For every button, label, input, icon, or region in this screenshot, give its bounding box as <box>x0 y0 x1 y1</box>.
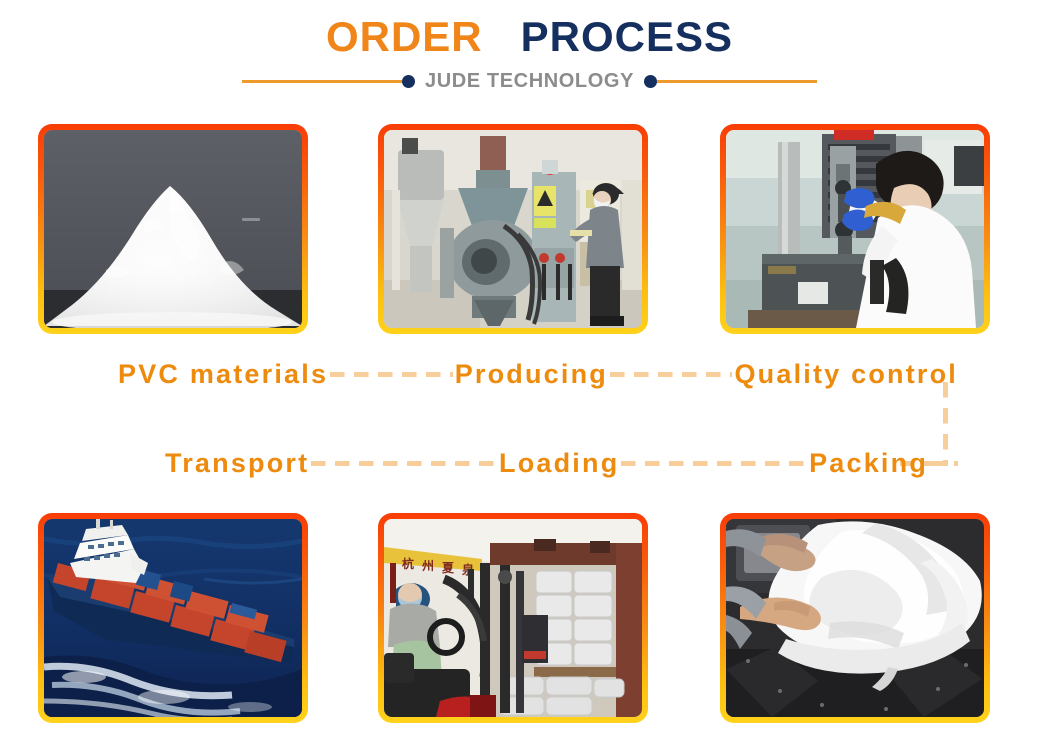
page-title-word-process: PROCESS <box>521 13 733 60</box>
photo-card-loading[interactable]: 杭州夏泉 <box>378 513 648 723</box>
photo-card-transport[interactable] <box>38 513 308 723</box>
step-label-loading: Loading <box>499 446 619 480</box>
step-connector-2 <box>610 372 732 377</box>
step-connector-5 <box>930 461 958 466</box>
transport-photo <box>44 519 302 717</box>
step-label-quality-control: Quality control <box>734 357 958 391</box>
photo-card-packing[interactable] <box>720 513 990 723</box>
step-connector-1 <box>330 372 452 377</box>
svg-text:夏: 夏 <box>442 561 455 575</box>
divider-line-right <box>657 80 817 83</box>
subtitle-row: JUDE TECHNOLOGY <box>0 66 1059 96</box>
packing-photo <box>726 519 984 717</box>
photo-card-producing[interactable] <box>378 124 648 334</box>
divider-dot-right-icon <box>644 75 657 88</box>
pvc-materials-photo <box>44 130 302 328</box>
photo-card-quality-control[interactable] <box>720 124 990 334</box>
step-label-packing: Packing <box>809 446 928 480</box>
process-step-row-bottom: Transport Loading Packing <box>165 443 960 483</box>
quality-control-photo <box>726 130 984 328</box>
page-title-word-order: ORDER <box>326 13 483 60</box>
step-label-pvc-materials: PVC materials <box>118 357 328 391</box>
svg-text:杭: 杭 <box>402 556 414 571</box>
page-header: ORDER PROCESS JUDE TECHNOLOGY <box>0 0 1059 110</box>
step-label-producing: Producing <box>455 357 608 391</box>
company-subtitle: JUDE TECHNOLOGY <box>415 70 644 92</box>
step-connector-3 <box>311 461 497 466</box>
svg-text:州: 州 <box>421 559 434 573</box>
loading-photo: 杭州夏泉 <box>384 519 642 717</box>
divider-line-left <box>242 80 402 83</box>
photo-card-pvc-materials[interactable] <box>38 124 308 334</box>
step-label-transport: Transport <box>165 446 309 480</box>
divider-dot-left-icon <box>402 75 415 88</box>
page-title: ORDER PROCESS <box>0 12 1059 62</box>
step-connector-4 <box>621 461 807 466</box>
producing-photo <box>384 130 642 328</box>
process-step-row-top: PVC materials Producing Quality control <box>118 354 958 394</box>
